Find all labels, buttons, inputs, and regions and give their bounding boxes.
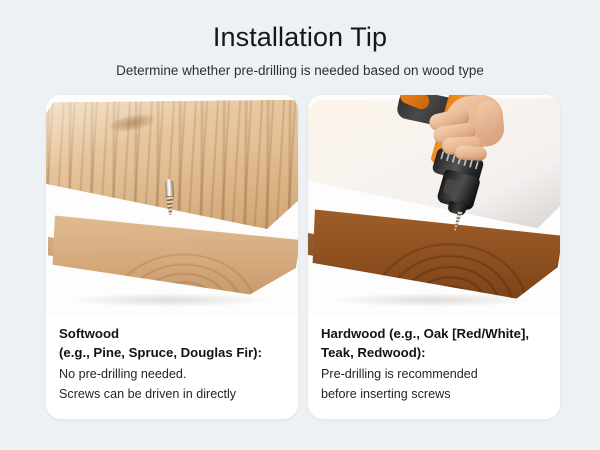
hardwood-plank-illustration <box>308 95 560 315</box>
hardwood-body-line-2: before inserting screws <box>321 385 547 403</box>
cordless-drill-icon <box>396 95 526 241</box>
hardwood-photo <box>308 95 560 315</box>
header: Installation Tip Determine whether pre-d… <box>0 0 600 79</box>
softwood-heading-line-2: (e.g., Pine, Spruce, Douglas Fir): <box>59 344 285 363</box>
screw-thread <box>164 196 175 215</box>
page-subtitle: Determine whether pre-drilling is needed… <box>0 63 600 79</box>
drill-bit-icon <box>451 210 463 231</box>
softwood-card-text: Softwood (e.g., Pine, Spruce, Douglas Fi… <box>46 315 298 419</box>
page-title: Installation Tip <box>0 22 600 53</box>
hardwood-card: Hardwood (e.g., Oak [Red/White], Teak, R… <box>308 95 560 419</box>
hand-gripping-drill <box>415 95 507 163</box>
installation-tip-page: Installation Tip Determine whether pre-d… <box>0 0 600 450</box>
hand-finger <box>454 145 487 161</box>
softwood-card: Softwood (e.g., Pine, Spruce, Douglas Fi… <box>46 95 298 419</box>
softwood-body-line-1: No pre-drilling needed. <box>59 365 285 383</box>
softwood-heading-line-1: Softwood <box>59 325 285 344</box>
softwood-body-line-2: Screws can be driven in directly <box>59 385 285 403</box>
standing-screw-icon <box>163 179 176 216</box>
comparison-cards: Softwood (e.g., Pine, Spruce, Douglas Fi… <box>46 95 565 419</box>
drill-chuck-ridge <box>443 178 474 200</box>
hardwood-body-line-1: Pre-drilling is recommended <box>321 365 547 383</box>
plank-shadow <box>70 293 270 307</box>
softwood-photo <box>46 95 298 315</box>
hardwood-heading-line-1: Hardwood (e.g., Oak [Red/White], <box>321 325 547 344</box>
softwood-plank-illustration <box>46 95 298 315</box>
hardwood-heading-line-2: Teak, Redwood): <box>321 344 547 363</box>
hardwood-card-text: Hardwood (e.g., Oak [Red/White], Teak, R… <box>308 315 560 419</box>
